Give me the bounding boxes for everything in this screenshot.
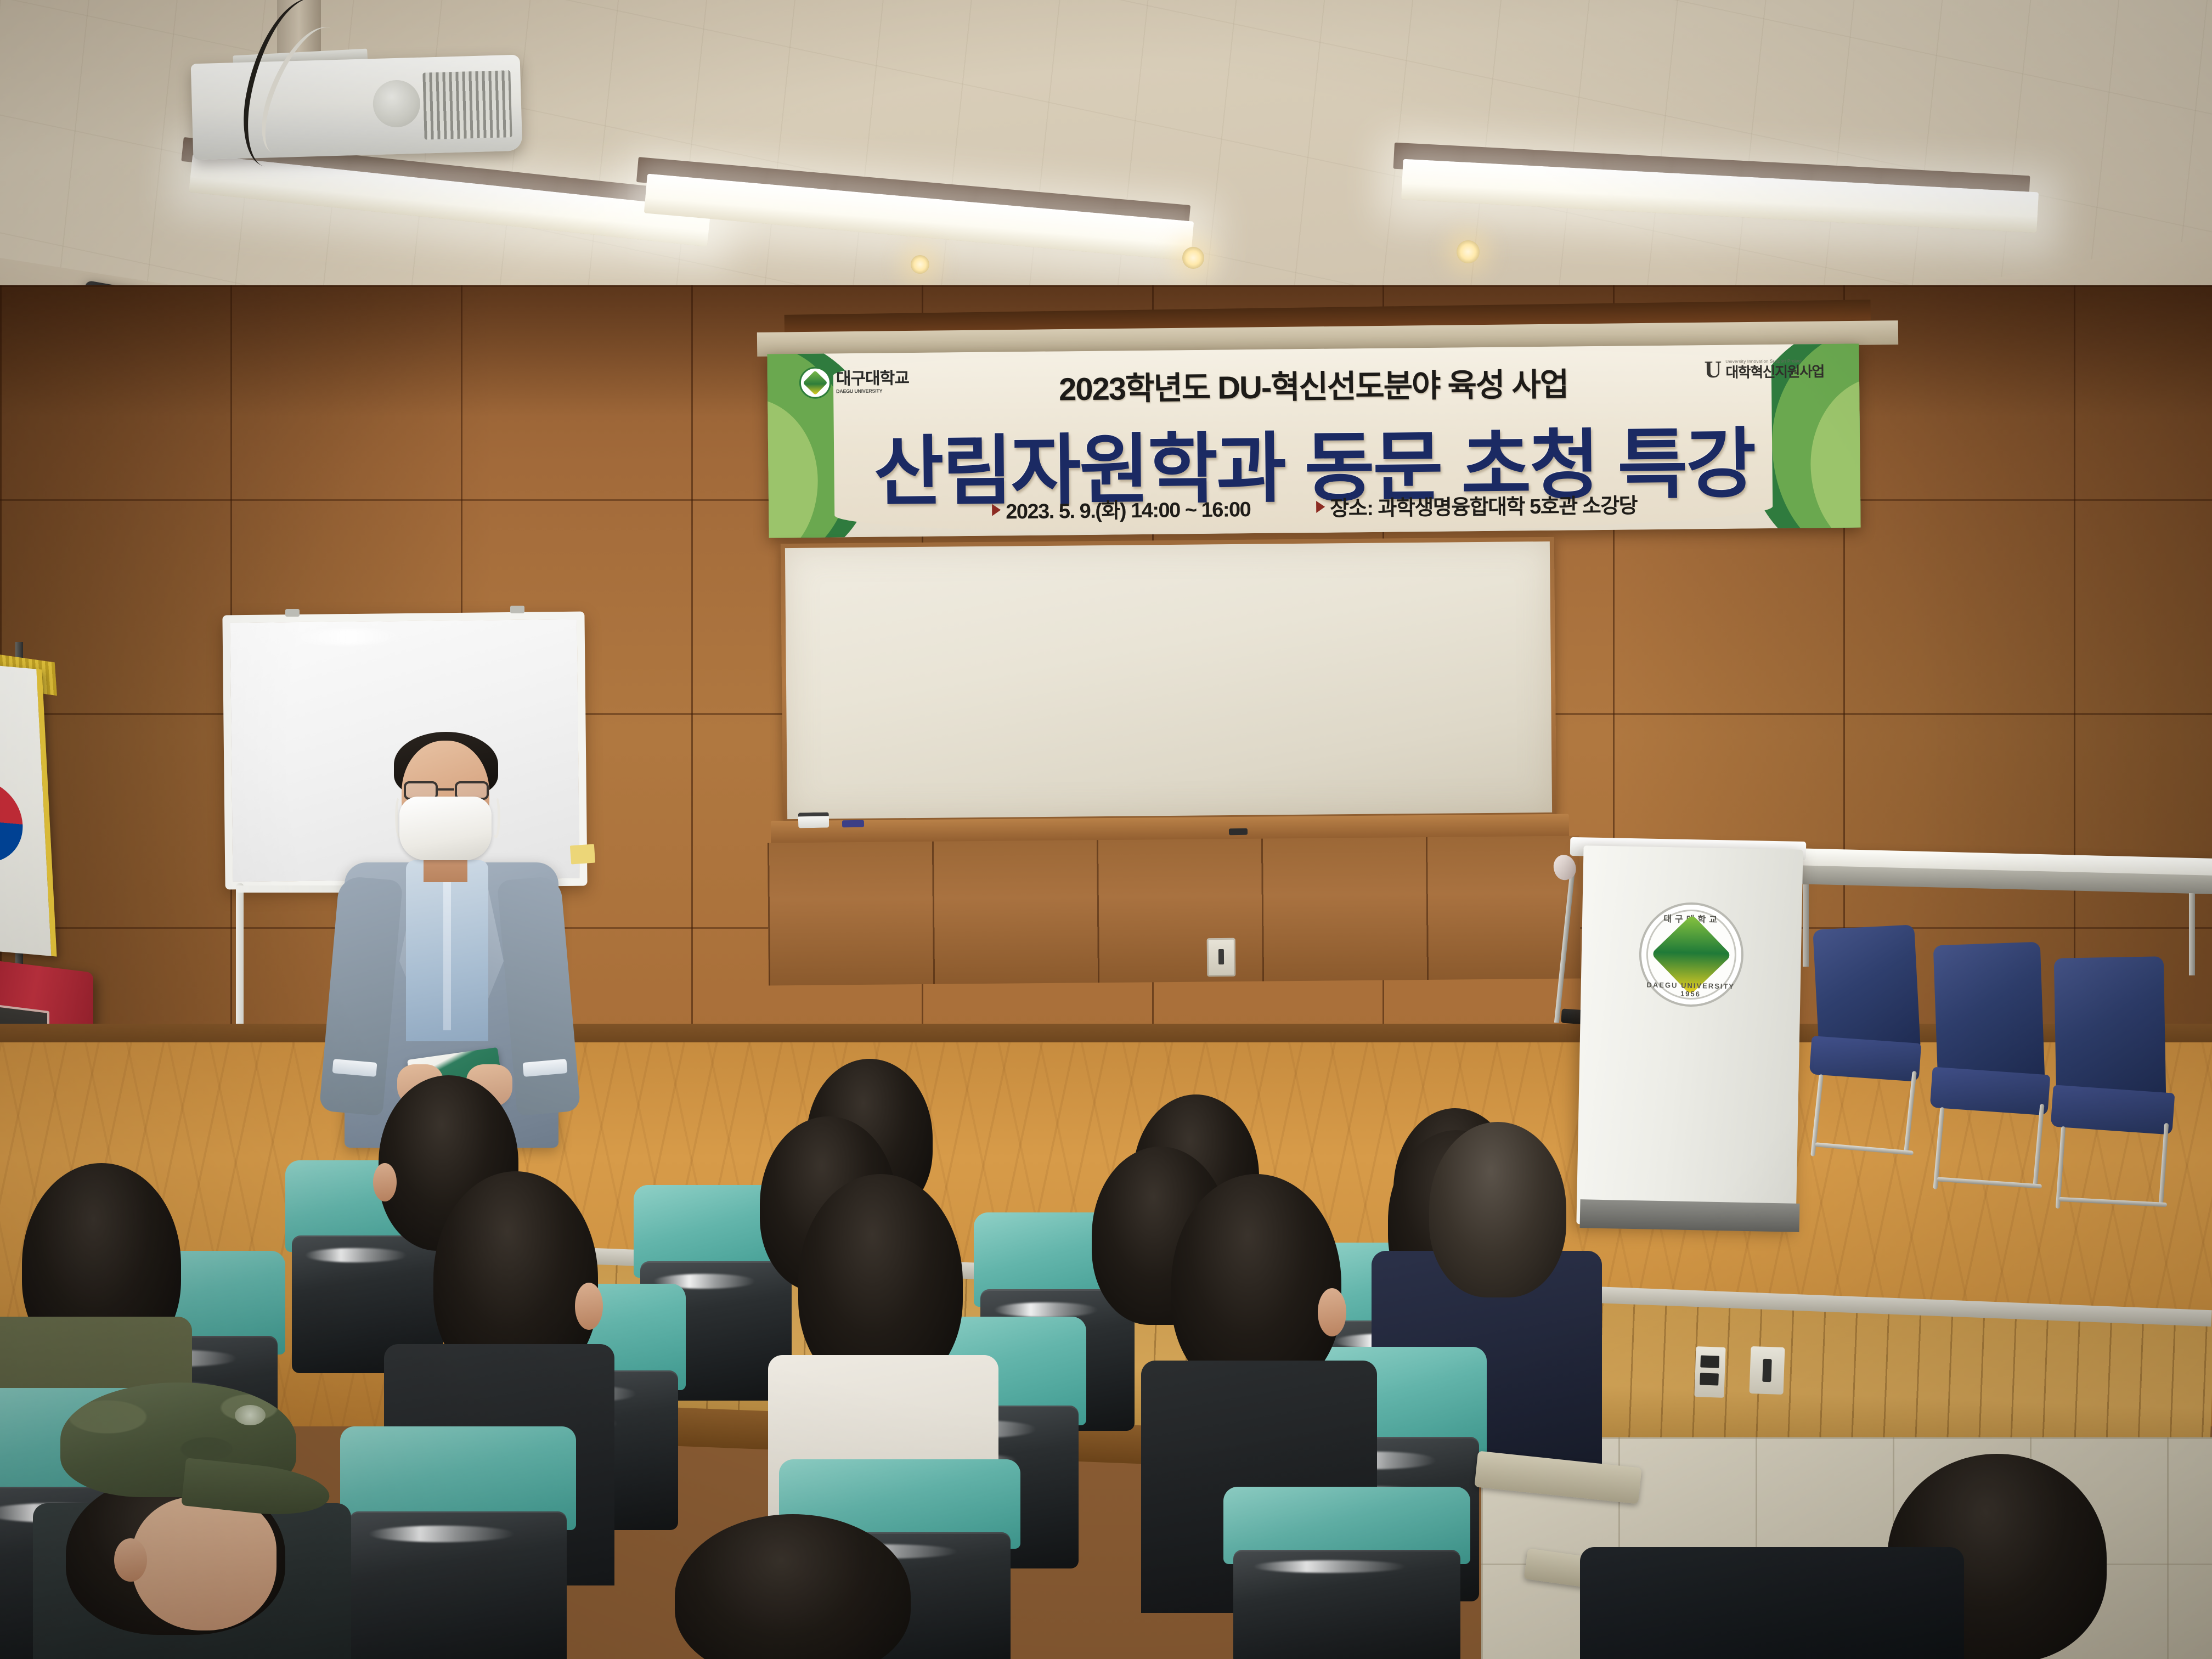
seat-highlight — [994, 1302, 1098, 1317]
podium-base — [1580, 1199, 1800, 1232]
whiteboard-clip-right — [510, 606, 524, 613]
university-innovation-logo-icon: U University Innovation Support Project … — [1704, 358, 1824, 380]
ceiling-mounted-projector-icon — [191, 55, 523, 160]
wall-cabinet-row — [768, 836, 1581, 986]
banner-datetime-item: 2023. 5. 9.(화) 14:00 ~ 16:00 — [992, 492, 1251, 525]
chair-back — [2054, 956, 2166, 1099]
back-table-leg-2 — [2189, 893, 2195, 975]
auditorium-seat[interactable] — [340, 1426, 576, 1659]
innovation-name-kr: 대학혁신지원사업 — [1725, 364, 1824, 380]
whiteboard-sticky-note — [570, 844, 595, 865]
camouflage-baseball-cap — [60, 1383, 296, 1542]
whiteboard-marker-2[interactable] — [1229, 828, 1248, 836]
outlet-slots — [1218, 949, 1224, 964]
innovation-logo-text: University Innovation Support Project 대학… — [1725, 359, 1824, 380]
head-ear — [373, 1163, 397, 1201]
seat-highlight — [369, 1526, 515, 1542]
banner-datetime: 2023. 5. 9.(화) 14:00 ~ 16:00 — [1006, 492, 1251, 524]
banner-location: 장소: 과학생명융합대학 5호관 소강당 — [1330, 488, 1637, 521]
projector-lens-icon — [373, 80, 421, 128]
chair-seat — [1930, 1067, 2051, 1116]
banner-location-item: 장소: 과학생명융합대학 5호관 소강당 — [1316, 488, 1637, 522]
auditorium-seat[interactable] — [1223, 1487, 1470, 1659]
presenter-face-mask — [399, 797, 492, 860]
projection-screen — [781, 537, 1556, 823]
switch-rocker-2[interactable] — [1700, 1373, 1719, 1385]
chair-back — [1813, 924, 1921, 1053]
head-ear — [114, 1538, 147, 1582]
lectern-podium: 대구대학교 DAEGU UNIVERSITY 1956 — [1576, 845, 1803, 1228]
recessed-downlight-2 — [1182, 247, 1204, 269]
shirt-placket — [443, 871, 451, 1030]
audience-head-5 — [1429, 1122, 1566, 1297]
outlet-slot — [1762, 1359, 1771, 1383]
chair-seat — [2051, 1085, 2175, 1135]
glasses-bridge — [438, 788, 454, 791]
head-ear — [575, 1283, 603, 1330]
stage-switch-plate-icon[interactable] — [1694, 1346, 1725, 1398]
event-banner: 대구대학교 DAEGU UNIVERSITY 2023학년도 DU-혁신선도분야… — [767, 343, 1860, 538]
wall-power-outlet-icon[interactable] — [1207, 938, 1236, 977]
seal-text-en: DAEGU UNIVERSITY 1956 — [1640, 980, 1741, 998]
chair-seat — [1809, 1036, 1921, 1082]
lecture-hall-photo: 대구대학교 DAEGU UNIVERSITY 2023학년도 DU-혁신선도분야… — [0, 0, 2212, 1659]
audience-head-near-right — [675, 1514, 911, 1659]
whiteboard-eraser[interactable] — [798, 812, 829, 828]
presenter-shirt — [406, 860, 488, 1041]
whiteboard-clip-left — [285, 609, 300, 617]
head-ear — [1318, 1288, 1347, 1336]
mask-earloop-right — [492, 795, 500, 838]
taegeuk-circle-icon — [0, 776, 25, 866]
shirt-cuff-right — [523, 1059, 568, 1077]
whiteboard-marker[interactable] — [842, 820, 864, 828]
cap-button-icon — [235, 1405, 266, 1426]
recessed-downlight-3 — [1457, 240, 1480, 263]
stage-power-outlet-icon[interactable] — [1750, 1346, 1785, 1395]
switch-rocker-1[interactable] — [1700, 1355, 1719, 1368]
chair-back — [1933, 942, 2045, 1083]
head-hair — [675, 1514, 911, 1659]
audience-torso-near-right — [1580, 1547, 1964, 1659]
whiteboard-glare — [296, 629, 400, 645]
back-table-leg-1 — [1803, 884, 1809, 967]
head-hair — [1429, 1122, 1566, 1297]
shirt-cuff-left — [332, 1059, 377, 1077]
recessed-downlight-1 — [911, 255, 929, 274]
daegu-university-seal-icon: 대구대학교 DAEGU UNIVERSITY 1956 — [1638, 901, 1745, 1008]
innovation-logo-mark: U — [1704, 359, 1722, 380]
projection-screen-surface — [785, 541, 1552, 819]
seat-highlight — [1253, 1560, 1406, 1572]
projector-vent — [422, 70, 512, 139]
bullet-triangle-icon — [1316, 500, 1325, 512]
bullet-triangle-icon — [992, 504, 1001, 516]
